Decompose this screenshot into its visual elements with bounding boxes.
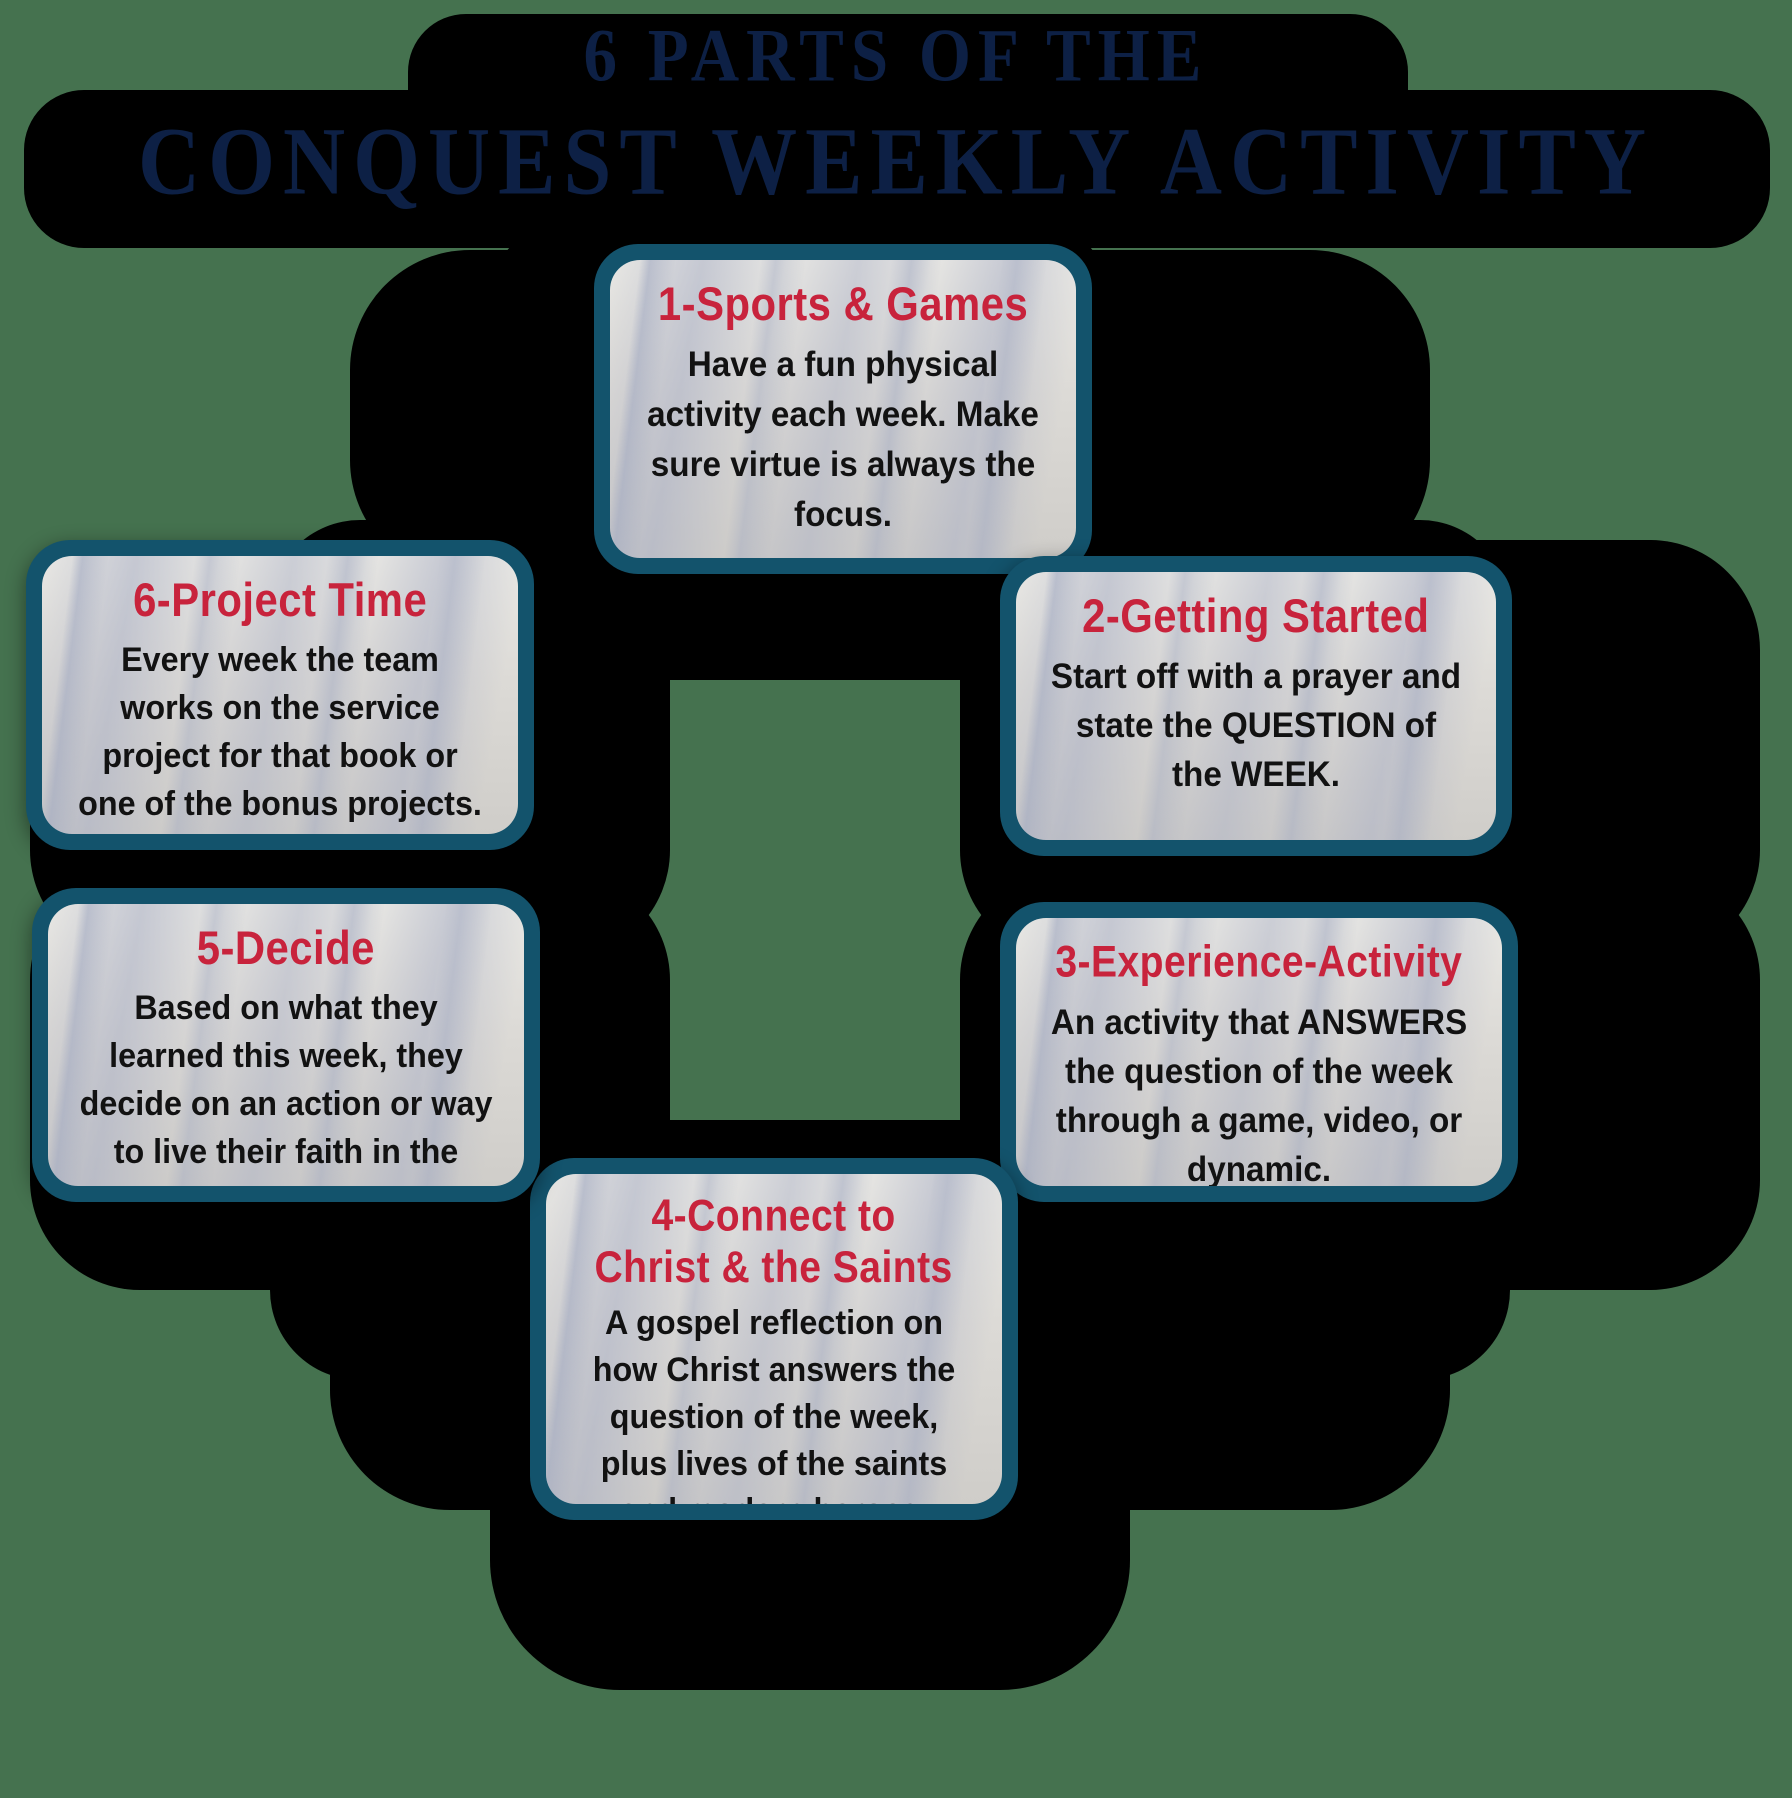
- card-face: 4-Connect to Christ & the Saints A gospe…: [546, 1174, 1002, 1504]
- card-heading: 6-Project Time: [133, 573, 427, 628]
- card-body: A gospel reflection on how Christ answer…: [576, 1300, 971, 1504]
- card-heading: 2-Getting Started: [1082, 589, 1429, 644]
- card-heading: 5-Decide: [197, 921, 375, 976]
- card-heading: 3-Experience-Activity: [1055, 935, 1462, 990]
- card-body: Based on what they learned this week, th…: [79, 984, 493, 1186]
- card-body: Have a fun physical activity each week. …: [641, 340, 1046, 540]
- title-line-2: Conquest Weekly Activity: [0, 95, 1792, 227]
- step-card-4-connect-to-christ-and-the-saints[interactable]: 4-Connect to Christ & the Saints A gospe…: [530, 1158, 1018, 1520]
- card-heading-line-1: 4-Connect to: [652, 1191, 896, 1240]
- card-body: Every week the team works on the service…: [73, 636, 487, 828]
- card-face: 3-Experience-Activity An activity that A…: [1016, 918, 1502, 1186]
- step-card-6-project-time[interactable]: 6-Project Time Every week the team works…: [26, 540, 534, 850]
- step-card-5-decide[interactable]: 5-Decide Based on what they learned this…: [32, 888, 540, 1202]
- card-face: 1-Sports & Games Have a fun physical act…: [610, 260, 1076, 558]
- card-face: 2-Getting Started Start off with a praye…: [1016, 572, 1496, 840]
- card-body: Start off with a prayer and state the QU…: [1047, 652, 1465, 799]
- card-heading-line-2: Christ & the Saints: [595, 1242, 953, 1291]
- title-line-1: 6 Parts of the: [0, 4, 1792, 107]
- step-card-1-sports-and-games[interactable]: 1-Sports & Games Have a fun physical act…: [594, 244, 1092, 574]
- card-heading: 1-Sports & Games: [658, 277, 1028, 332]
- step-card-3-experience-activity[interactable]: 3-Experience-Activity An activity that A…: [1000, 902, 1518, 1202]
- step-card-2-getting-started[interactable]: 2-Getting Started Start off with a praye…: [1000, 556, 1512, 856]
- infographic-canvas: 6 Parts of the Conquest Weekly Activity …: [0, 0, 1792, 1798]
- card-heading: 4-Connect to Christ & the Saints: [595, 1190, 953, 1293]
- card-body: An activity that ANSWERS the question of…: [1047, 998, 1471, 1186]
- card-face: 6-Project Time Every week the team works…: [42, 556, 518, 834]
- card-face: 5-Decide Based on what they learned this…: [48, 904, 524, 1186]
- page-title: 6 Parts of the Conquest Weekly Activity: [0, 10, 1792, 220]
